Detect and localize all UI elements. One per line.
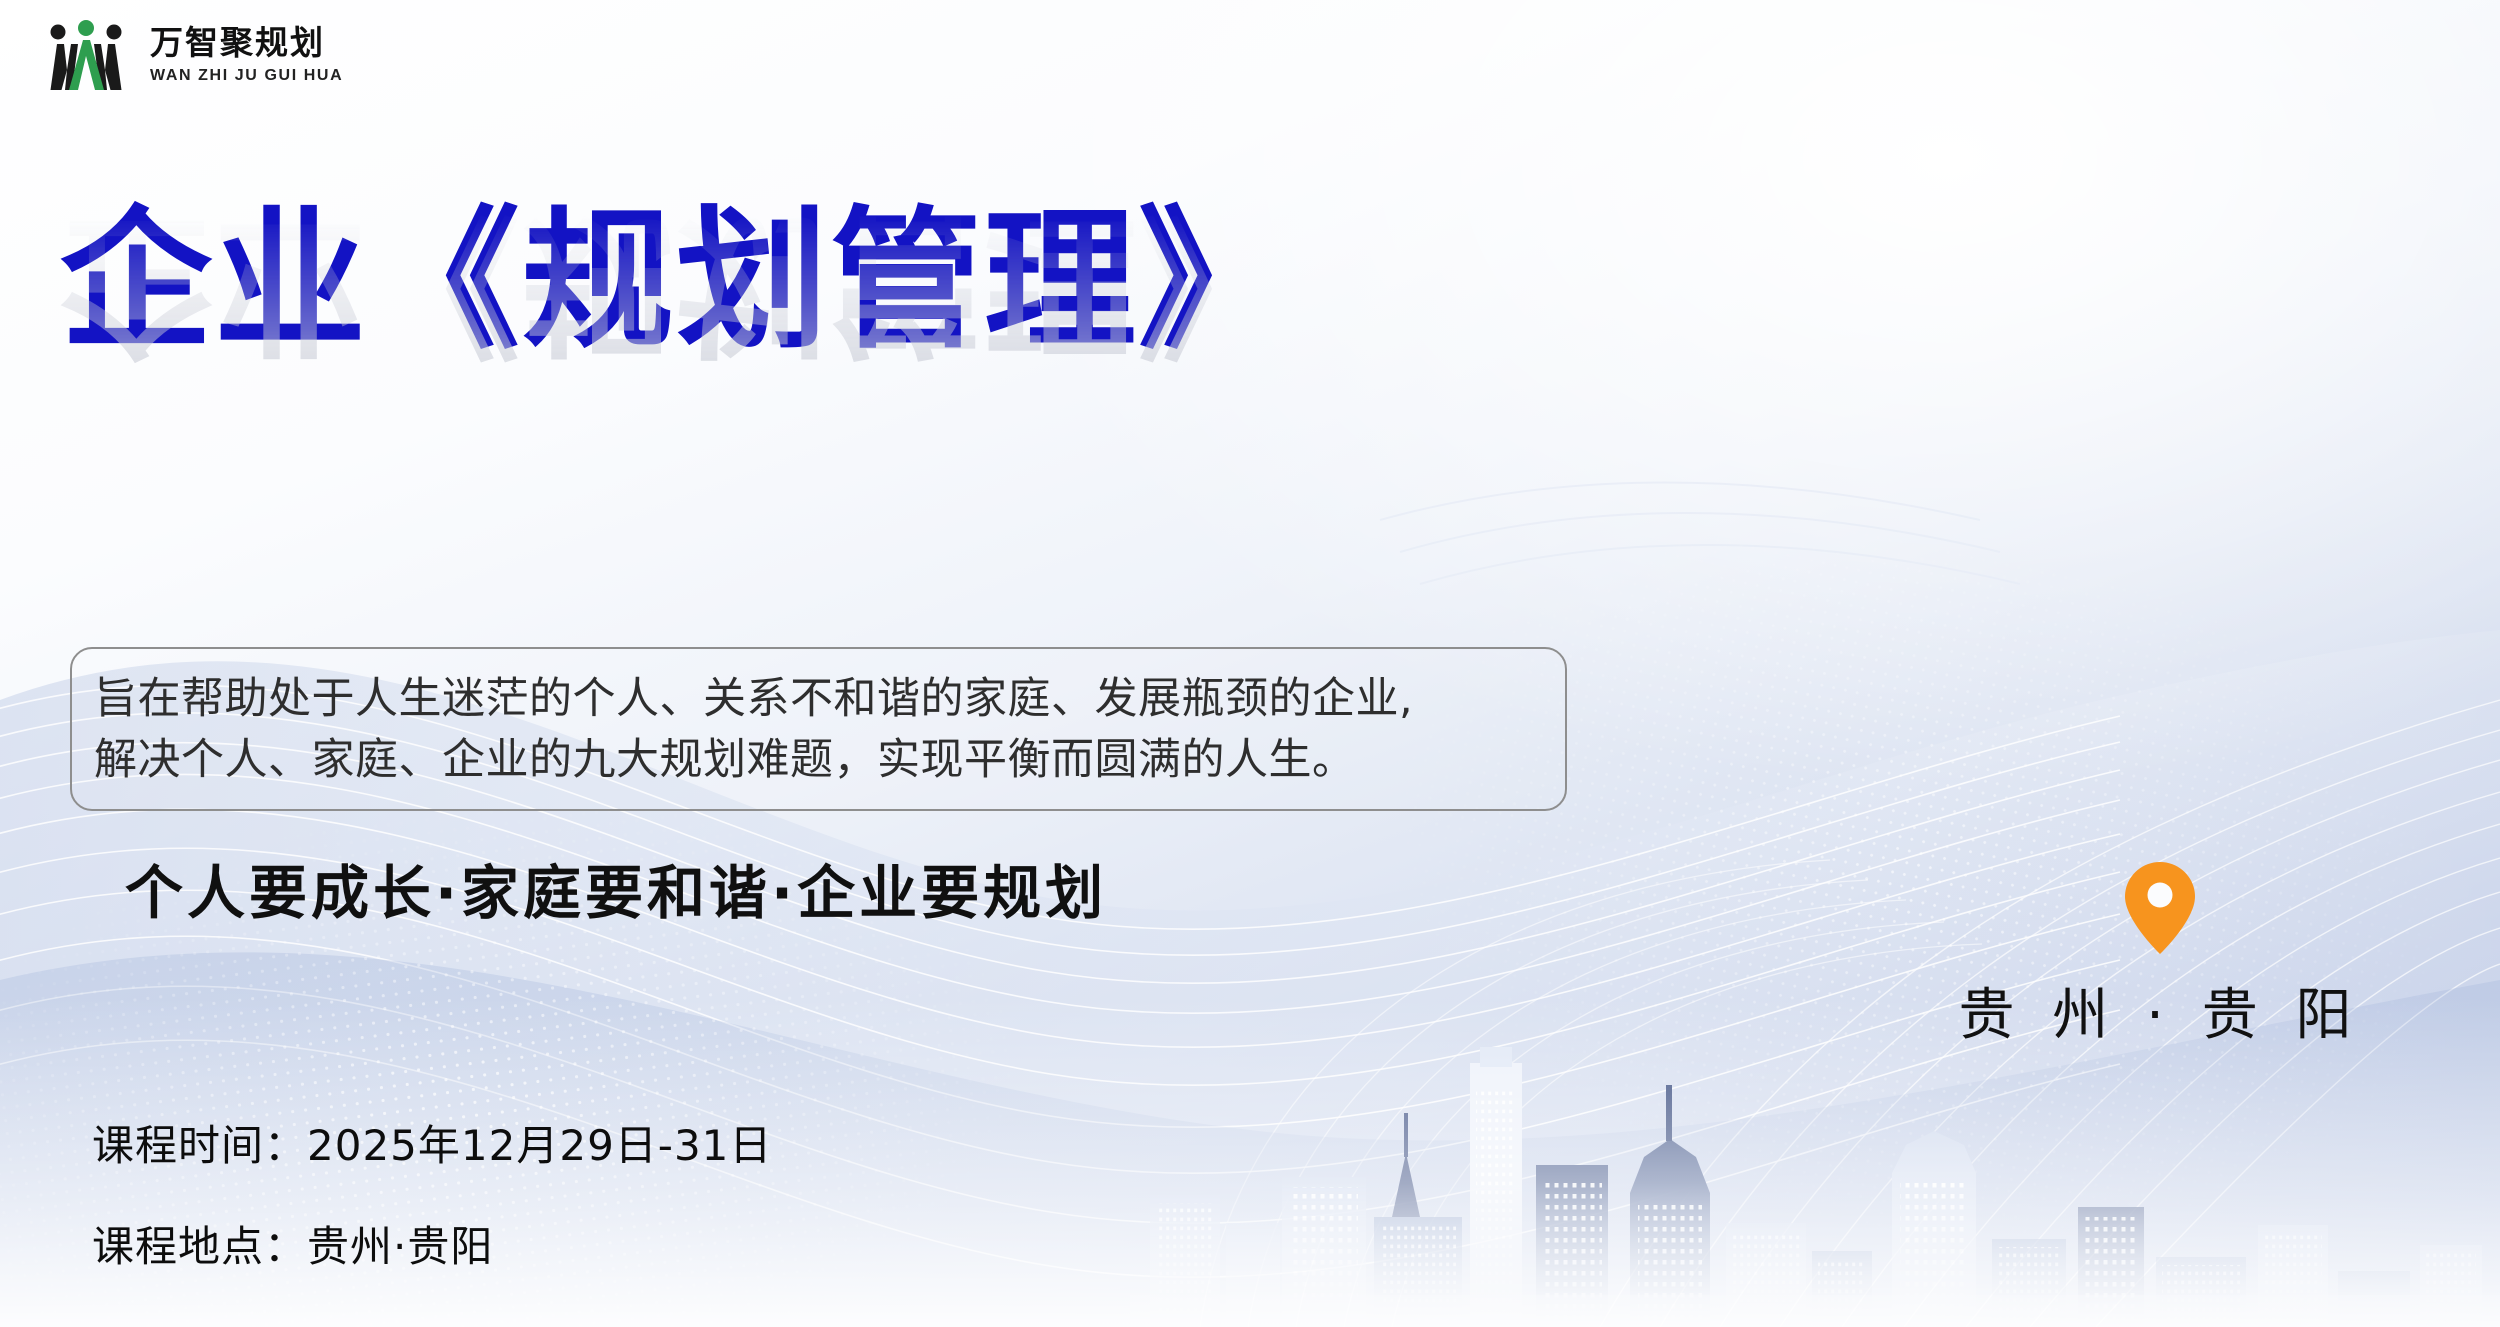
description-line-2: 解决个人、家庭、企业的九大规划难题，实现平衡而圆满的人生。 (94, 730, 1543, 791)
page-title-reflection: 企业《规划管理》 (60, 198, 1620, 368)
poster-canvas: 万智聚规划 WAN ZHI JU GUI HUA 企业《规划管理》 企业《规划管… (0, 0, 2500, 1327)
course-time-row: 课程时间：2025年12月29日-31日 (92, 1112, 772, 1173)
description-box: 旨在帮助处于人生迷茫的个人、关系不和谐的家庭、发展瓶颈的企业, 解决个人、家庭、… (70, 647, 1567, 811)
course-info-block: 课程时间：2025年12月29日-31日 课程地点：贵州·贵阳 (92, 1112, 772, 1274)
map-pin-icon (2122, 860, 2198, 956)
location-label: 贵 州 · 贵 阳 (1950, 970, 2370, 1051)
tagline: 个人要成长·家庭要和谐·企业要规划 (125, 846, 1107, 930)
brand-name-pinyin: WAN ZHI JU GUI HUA (150, 67, 343, 85)
three-people-logo-icon (40, 18, 132, 94)
brand-name-cn: 万智聚规划 (150, 27, 343, 63)
brand-logo[interactable]: 万智聚规划 WAN ZHI JU GUI HUA (40, 18, 343, 94)
hero-title-block: 企业《规划管理》 企业《规划管理》 (60, 196, 1620, 538)
course-place-value: 贵州·贵阳 (307, 1222, 493, 1271)
description-line-1: 旨在帮助处于人生迷茫的个人、关系不和谐的家庭、发展瓶颈的企业, (94, 669, 1543, 730)
course-place-label: 课程地点： (92, 1222, 307, 1271)
course-time-label: 课程时间： (92, 1121, 307, 1170)
location-block: 贵 州 · 贵 阳 (1950, 860, 2370, 1051)
course-time-value: 2025年12月29日-31日 (307, 1121, 772, 1170)
course-place-row: 课程地点：贵州·贵阳 (92, 1213, 772, 1274)
